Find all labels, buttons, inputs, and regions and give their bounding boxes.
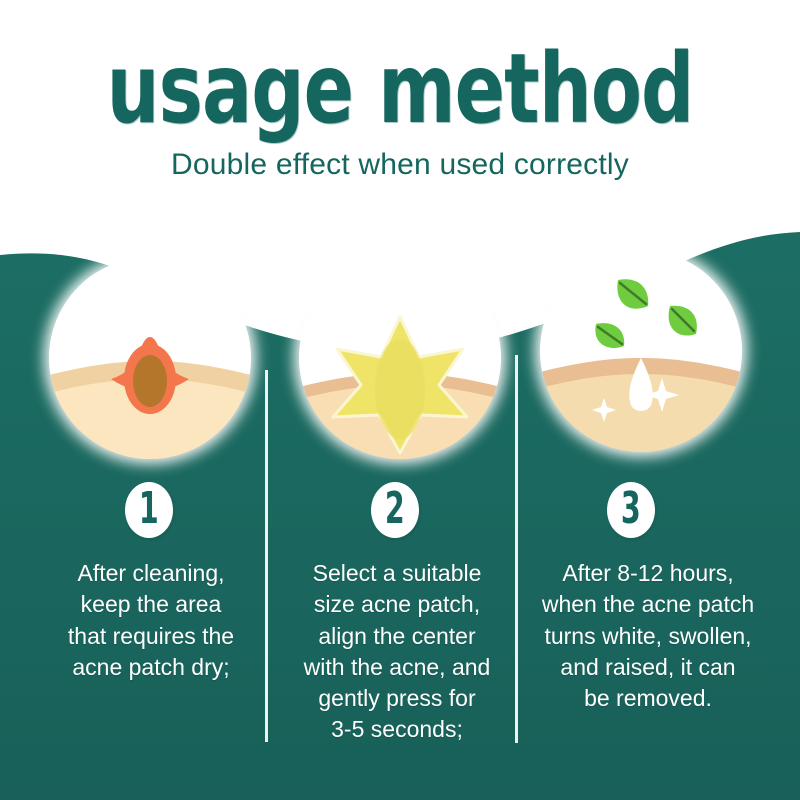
step-1-caption: After cleaning, keep the area that requi… [36, 558, 266, 683]
column-divider-2 [515, 355, 518, 743]
caption-line: when the acne patch [520, 589, 776, 620]
step-3-caption: After 8-12 hours, when the acne patch tu… [520, 558, 776, 714]
caption-line: After 8-12 hours, [520, 558, 776, 589]
caption-line: After cleaning, [36, 558, 266, 589]
caption-line: Select a suitable [281, 558, 513, 589]
step-2-number: 2 [385, 487, 405, 531]
step-2-number-badge: 2 [371, 482, 419, 538]
caption-line: align the center [281, 621, 513, 652]
caption-line: 3-5 seconds; [281, 714, 513, 745]
caption-line: size acne patch, [281, 589, 513, 620]
step-3-number-badge: 3 [607, 482, 655, 538]
steps-section: 1 2 3 After cleaning, keep the area that… [0, 0, 800, 800]
caption-line: acne patch dry; [36, 652, 266, 683]
step-1-number-badge: 1 [125, 482, 173, 538]
step-1-number: 1 [139, 487, 159, 531]
step-3-number: 3 [621, 487, 641, 531]
caption-line: with the acne, and [281, 652, 513, 683]
column-divider-1 [265, 370, 268, 742]
caption-line: keep the area [36, 589, 266, 620]
caption-line: be removed. [520, 683, 776, 714]
caption-line: that requires the [36, 621, 266, 652]
caption-line: turns white, swollen, [520, 621, 776, 652]
caption-line: gently press for [281, 683, 513, 714]
step-2-caption: Select a suitable size acne patch, align… [281, 558, 513, 746]
infographic-page: usage method Double effect when used cor… [0, 0, 800, 800]
caption-line: and raised, it can [520, 652, 776, 683]
